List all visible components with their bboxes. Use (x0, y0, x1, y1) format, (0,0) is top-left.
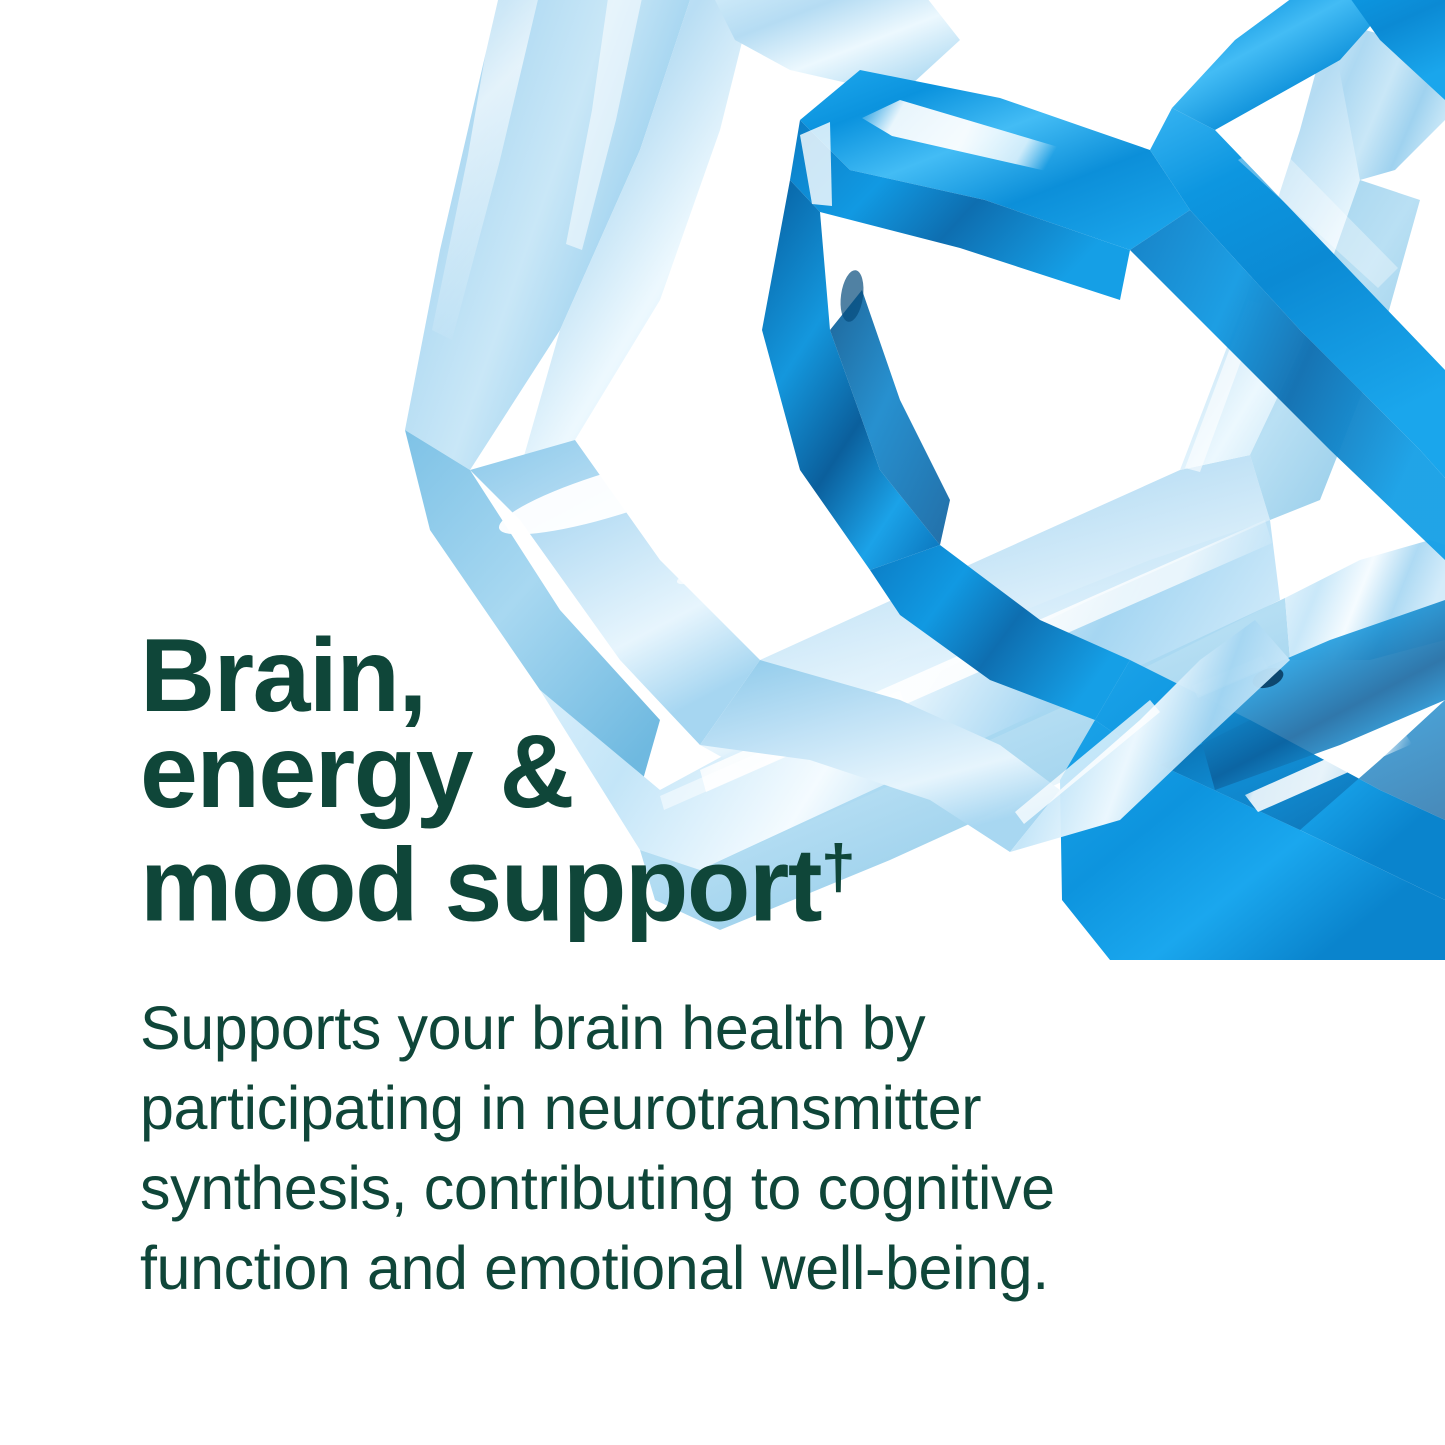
headline-line-1: Brain, (140, 628, 1200, 724)
headline-line-3: mood support† (140, 820, 1200, 934)
headline-line-2: energy & (140, 724, 1200, 820)
headline-line-3-text: mood support (140, 828, 821, 944)
copy-block: Brain, energy & mood support† Supports y… (140, 628, 1200, 1308)
body-text: Supports your brain health by participat… (140, 934, 1180, 1308)
page-title: Brain, energy & mood support† (140, 628, 1200, 934)
promo-panel: Brain, energy & mood support† Supports y… (0, 0, 1445, 1445)
dagger-symbol: † (821, 833, 856, 902)
